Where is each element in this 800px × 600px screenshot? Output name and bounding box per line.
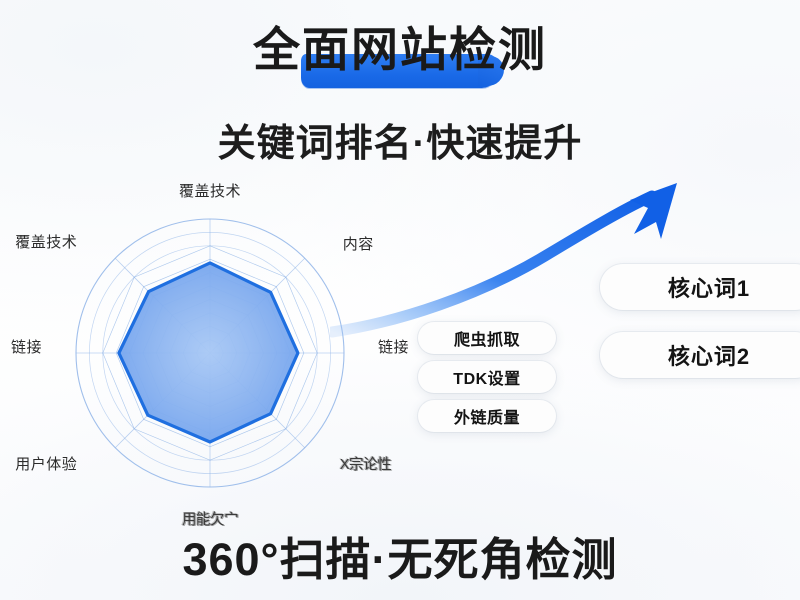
title-segment-highlight: 网站 bbox=[351, 23, 449, 76]
radar-axis-label-0: 覆盖技术 bbox=[179, 180, 241, 201]
page-title: 全面网站检测 bbox=[253, 26, 547, 73]
radar-series-polygon bbox=[119, 263, 298, 442]
keyword-pill-2[interactable]: 核心词2 bbox=[600, 332, 800, 378]
subtitle: 关键词排名·快速提升 bbox=[0, 112, 800, 167]
feature-pill-label: 爬虫抓取 bbox=[454, 326, 520, 350]
radar-axis-label-3: X宗论性 bbox=[340, 453, 391, 474]
radar-axis-label-5: 用户体验 bbox=[15, 453, 77, 474]
feature-pill-label: 外链质量 bbox=[454, 404, 520, 428]
radar-axis-label-6: 链接 bbox=[11, 336, 42, 357]
headline-container: 全面网站检测 bbox=[0, 26, 800, 73]
keyword-pill-1[interactable]: 核心词1 bbox=[600, 264, 800, 310]
arrow-shaft bbox=[332, 196, 652, 332]
feature-pill-crawl[interactable]: 爬虫抓取 bbox=[418, 322, 556, 354]
feature-pill-backlink[interactable]: 外链质量 bbox=[418, 400, 556, 432]
keyword-pill-label: 核心词2 bbox=[668, 339, 750, 371]
keyword-pill-label: 核心词1 bbox=[668, 271, 750, 303]
growth-arrow bbox=[330, 180, 700, 340]
title-segment-after: 检测 bbox=[449, 23, 547, 76]
footer-tagline: 360°扫描·无死角检测 bbox=[0, 523, 800, 588]
feature-pill-tdk[interactable]: TDK设置 bbox=[418, 361, 556, 393]
feature-pill-label: TDK设置 bbox=[453, 365, 520, 389]
title-segment-before: 全面 bbox=[253, 23, 351, 76]
radar-axis-label-7: 覆盖技术 bbox=[15, 231, 77, 252]
